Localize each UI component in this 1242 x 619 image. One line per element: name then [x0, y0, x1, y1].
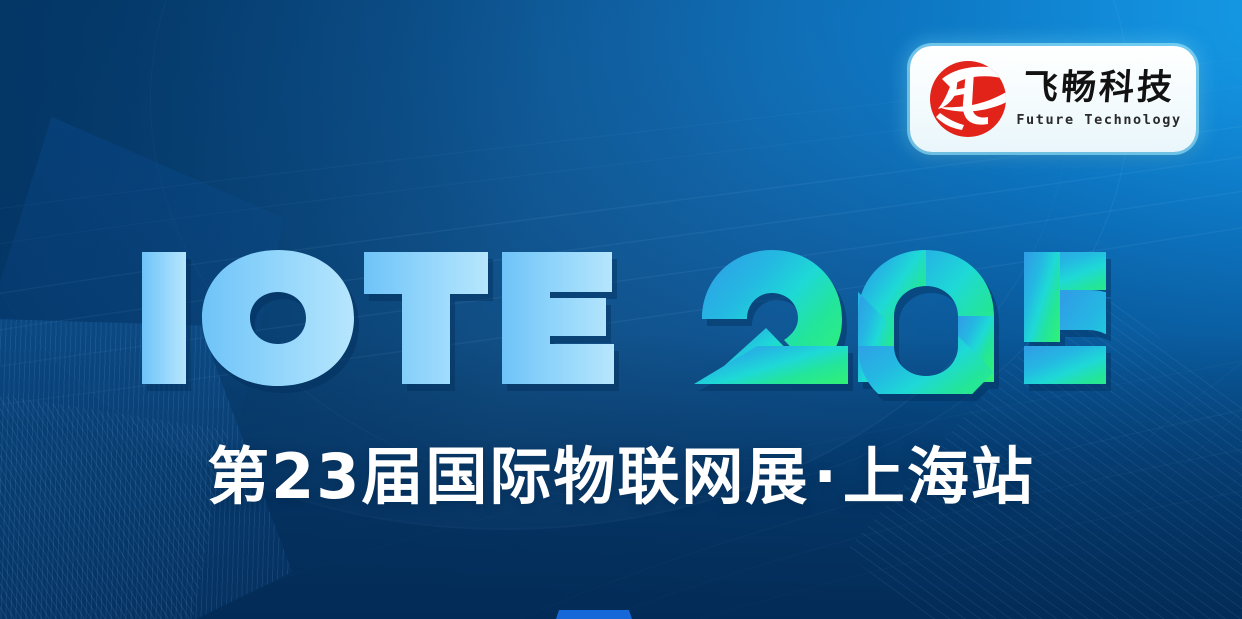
event-title [0, 238, 1242, 398]
subtitle-separator: · [809, 440, 843, 513]
company-name-cn: 飞畅科技 [1022, 70, 1177, 107]
title-iote-glyphs [142, 250, 614, 386]
event-subtitle: 第23届国际物联网展·上海站 [0, 446, 1242, 508]
company-name-en: Future Technology [1016, 112, 1181, 128]
title-year-glyphs [694, 250, 1106, 394]
iote-2025-banner: 飞畅科技 Future Technology [0, 0, 1242, 619]
subtitle-suffix: 上海站 [843, 440, 1035, 513]
company-logo-badge[interactable]: 飞畅科技 Future Technology [910, 46, 1196, 152]
logo-text-block: 飞畅科技 Future Technology [1016, 70, 1182, 128]
red-globe-calligraphy-emblem-icon [922, 56, 1014, 142]
bottom-accent-tab [556, 610, 632, 619]
subtitle-prefix: 第23届国际物联网展 [207, 440, 809, 513]
